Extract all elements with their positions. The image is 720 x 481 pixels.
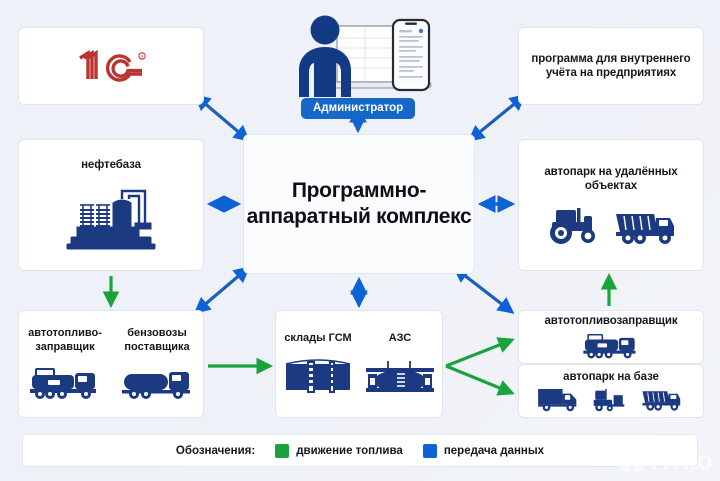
- cell-fuel-tanker[interactable]: автотопливо-заправщик: [21, 327, 109, 401]
- avito-logo-icon: [618, 446, 648, 474]
- avito-watermark: Avito: [618, 445, 713, 475]
- cell-fuel-warehouse[interactable]: склады ГСМ: [278, 332, 358, 397]
- node-title: автопарк на базе: [563, 370, 659, 384]
- cell-title: склады ГСМ: [284, 332, 351, 346]
- legend-label: Обозначения:: [176, 445, 255, 457]
- tractor-icon: [544, 202, 602, 246]
- center-title: Программно-аппаратный комплекс: [244, 178, 474, 230]
- legend-item-fuel-text: движение топлива: [296, 445, 403, 457]
- cell-supplier-tanker[interactable]: бензовозы поставщика: [113, 327, 201, 401]
- node-title: автопарк на удалённых объектах: [519, 165, 703, 193]
- cell-title: бензовозы поставщика: [113, 327, 201, 354]
- node-title: автотопливозаправщик: [544, 314, 677, 328]
- node-oil-depot[interactable]: нефтебаза: [18, 139, 204, 271]
- green-swatch: [275, 444, 289, 458]
- node-base-fleet[interactable]: автопарк на базе: [518, 364, 704, 418]
- administrator-illustration: [279, 12, 449, 112]
- forklift-icon: [589, 386, 629, 412]
- fuel-tanker-truck-icon: [28, 363, 102, 401]
- node-fuel-tankers[interactable]: автотопливо-заправщик: [18, 310, 204, 418]
- blue-swatch: [423, 444, 437, 458]
- legend-item-data: передача данных: [423, 444, 544, 458]
- arrow-fuel-storage-atz: [446, 340, 512, 366]
- node-remote-fleet[interactable]: автопарк на удалённых объектах: [518, 139, 704, 271]
- administrator-block[interactable]: Администратор: [279, 12, 449, 122]
- node-1c[interactable]: R: [18, 27, 204, 105]
- smartphone-icon: [393, 20, 429, 90]
- node-fuel-storage[interactable]: склады ГСМ: [275, 310, 443, 418]
- arrow-fueltrucks-center: [196, 268, 248, 312]
- dump-truck-icon: [614, 206, 678, 246]
- oil-depot-icon: [59, 181, 163, 253]
- van-icon: [535, 386, 581, 412]
- diagram-canvas: R: [0, 0, 720, 481]
- avito-watermark-text: Avito: [651, 445, 713, 475]
- arrow-center-atz: [455, 268, 512, 312]
- node-mobile-fuel-tanker[interactable]: автотопливозаправщик: [518, 310, 704, 364]
- arrow-1c-center: [196, 96, 248, 140]
- legend: Обозначения: движение топлива передача д…: [22, 434, 698, 467]
- arrow-program-center: [470, 96, 524, 140]
- cell-title: автотопливо-заправщик: [21, 327, 109, 354]
- cell-gas-station[interactable]: АЗС: [360, 332, 440, 397]
- gas-station-tank-icon: [364, 354, 436, 396]
- dump-truck-icon: [637, 386, 687, 412]
- legend-item-data-text: передача данных: [444, 445, 544, 457]
- node-internal-accounting-program[interactable]: программа для внутреннего учёта на предп…: [518, 27, 704, 105]
- arrow-fuel-storage-autopark-base: [446, 366, 512, 393]
- fuel-storage-tanks-icon: [282, 354, 354, 396]
- legend-item-fuel: движение топлива: [275, 444, 403, 458]
- node-hardware-software-complex[interactable]: Программно-аппаратный комплекс: [243, 134, 475, 274]
- 1c-logo: R: [72, 49, 150, 83]
- node-title: программа для внутреннего учёта на предп…: [519, 52, 703, 80]
- cell-title: АЗС: [389, 332, 412, 346]
- administrator-badge: Администратор: [301, 98, 415, 119]
- tanker-truck-icon: [120, 363, 194, 401]
- fuel-tanker-truck-icon: [575, 330, 647, 360]
- node-title: нефтебаза: [81, 158, 141, 172]
